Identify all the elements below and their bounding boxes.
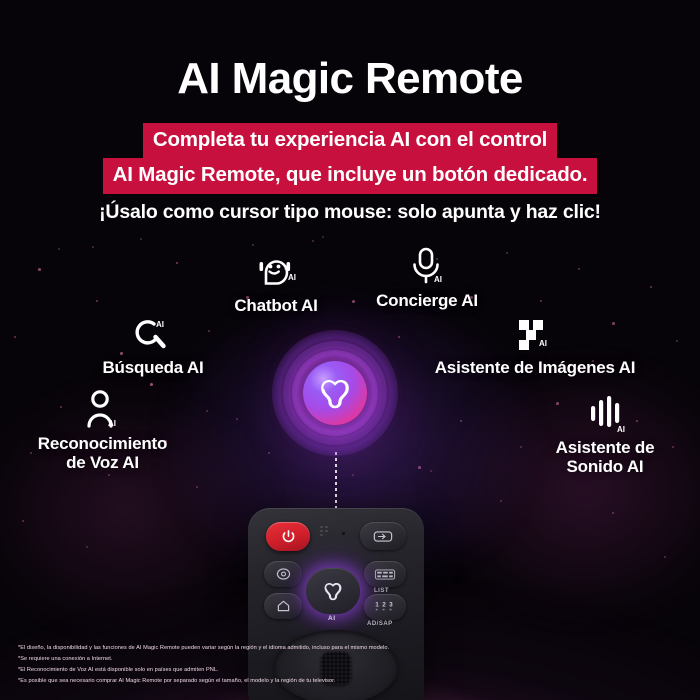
- guide-list-button[interactable]: [364, 561, 406, 587]
- star: [150, 383, 153, 386]
- star: [578, 268, 580, 270]
- star: [108, 474, 110, 476]
- numbers-adsap-label: AD/SAP: [367, 621, 393, 627]
- footnote-4: *Es posible que sea necesario comprar AI…: [18, 677, 578, 687]
- star: [650, 286, 652, 288]
- page-title: AI Magic Remote: [0, 0, 700, 103]
- orb-remote-connector: [335, 452, 337, 514]
- ai-knot-icon: [320, 579, 346, 603]
- star: [92, 246, 94, 248]
- star: [268, 452, 270, 454]
- person-icon: AI: [10, 388, 195, 430]
- star: [540, 300, 542, 302]
- feature-label: Búsqueda AI: [78, 358, 228, 377]
- star: [418, 466, 421, 469]
- star: [664, 556, 666, 558]
- star: [86, 546, 88, 548]
- ai-button[interactable]: [306, 568, 360, 614]
- footnote-3: *El Reconocimiento de Voz AI está dispon…: [18, 666, 578, 676]
- ir-indicator-dots: [320, 526, 330, 540]
- feature-concierge[interactable]: AI Concierge AI: [352, 245, 502, 310]
- star: [506, 252, 508, 254]
- settings-button[interactable]: [264, 561, 302, 587]
- svg-text:AI: AI: [434, 275, 442, 284]
- star: [252, 244, 254, 246]
- star: [322, 236, 324, 238]
- numbers-123-icon: 123: [373, 600, 397, 614]
- banner-subline: ¡Úsalo como cursor tipo mouse: solo apun…: [99, 201, 601, 224]
- input-tv-icon: [373, 530, 393, 543]
- header: AI Magic Remote Completa tu experiencia …: [0, 0, 700, 224]
- star: [312, 240, 314, 242]
- pixel-squares-icon: AI: [430, 312, 640, 354]
- svg-text:AI: AI: [539, 339, 547, 348]
- feature-voice-recognition[interactable]: AI Reconocimiento de Voz AI: [10, 388, 195, 472]
- banner-line-1: Completa tu experiencia AI con el contro…: [143, 123, 557, 159]
- star: [38, 268, 41, 271]
- star: [140, 238, 142, 240]
- home-button[interactable]: [264, 593, 302, 619]
- magnifier-icon: AI: [78, 312, 228, 354]
- feature-sound-assistant[interactable]: AI Asistente de Sonido AI: [520, 392, 690, 476]
- ai-magic-remote-promo-banner: AI Magic Remote Completa tu experiencia …: [0, 0, 700, 700]
- feature-label: Asistente de Sonido AI: [520, 438, 690, 476]
- orb-core: [303, 361, 367, 425]
- input-button[interactable]: [360, 522, 406, 550]
- feature-label: Reconocimiento de Voz AI: [10, 434, 195, 472]
- feature-label: Concierge AI: [352, 291, 502, 310]
- star: [206, 410, 208, 412]
- star: [22, 520, 24, 522]
- svg-text:AI: AI: [617, 425, 625, 434]
- star: [236, 418, 238, 420]
- star: [398, 336, 400, 338]
- ai-button-label: AI: [328, 615, 336, 622]
- ai-knot-logo: [315, 373, 355, 413]
- star: [352, 474, 354, 476]
- svg-text:1: 1: [375, 602, 379, 609]
- numbers-button[interactable]: 123: [364, 594, 406, 620]
- star: [430, 470, 432, 472]
- star: [14, 336, 16, 338]
- svg-text:3: 3: [389, 602, 393, 609]
- star: [612, 512, 614, 514]
- svg-text:AI: AI: [288, 273, 296, 282]
- feature-chatbot[interactable]: AI Chatbot AI: [196, 250, 356, 315]
- star: [58, 248, 60, 250]
- guide-icon: [374, 568, 396, 581]
- feature-label: Asistente de Imágenes AI: [430, 358, 640, 377]
- svg-text:AI: AI: [156, 320, 164, 329]
- feature-search[interactable]: AI Búsqueda AI: [78, 312, 228, 377]
- chatbot-headset-icon: AI: [196, 250, 356, 292]
- banner-line-2: AI Magic Remote, que incluye un botón de…: [103, 158, 598, 194]
- settings-icon: [275, 567, 292, 581]
- banner: Completa tu experiencia AI con el contro…: [0, 123, 700, 224]
- star: [196, 486, 198, 488]
- power-icon: [281, 529, 296, 544]
- star: [96, 300, 98, 302]
- star: [460, 420, 462, 422]
- star: [500, 500, 502, 502]
- star: [676, 340, 678, 342]
- svg-text:2: 2: [382, 602, 386, 609]
- footnote-2: *Se requiere una conexión a Internet.: [18, 655, 578, 665]
- power-button[interactable]: [266, 522, 310, 551]
- feature-image-assistant[interactable]: AI Asistente de Imágenes AI: [430, 312, 640, 377]
- star: [176, 262, 178, 264]
- waveform-bars-icon: AI: [520, 392, 690, 434]
- mic-hole: [342, 532, 345, 535]
- microphone-icon: AI: [352, 245, 502, 287]
- footnotes: *El diseño, la disponibilidad y las func…: [18, 644, 578, 688]
- ai-orb[interactable]: [272, 330, 398, 456]
- home-icon: [276, 599, 291, 613]
- footnote-1: *El diseño, la disponibilidad y las func…: [18, 644, 578, 654]
- svg-text:AI: AI: [108, 419, 116, 428]
